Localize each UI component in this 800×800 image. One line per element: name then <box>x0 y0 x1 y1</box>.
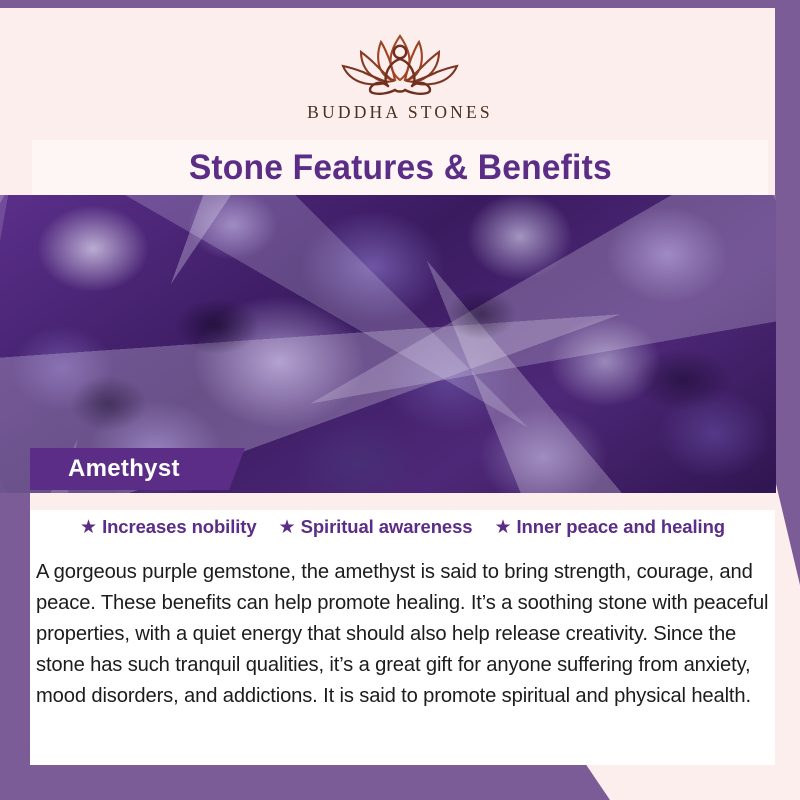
product-info-card: BUDDHA STONES Stone Features & Benefits … <box>0 0 800 800</box>
feature-item: ★ Spiritual awareness <box>279 516 473 538</box>
brand-name: BUDDHA STONES <box>307 102 493 123</box>
lotus-meditation-figure-icon <box>325 22 475 100</box>
stone-name-banner: Amethyst <box>30 448 245 490</box>
feature-item: ★ Increases nobility <box>80 516 257 538</box>
feature-label: Spiritual awareness <box>301 516 473 538</box>
stone-features-list: ★ Increases nobility ★ Spiritual awarene… <box>30 516 775 538</box>
star-icon: ★ <box>279 518 296 537</box>
stone-description: A gorgeous purple gemstone, the amethyst… <box>36 556 769 711</box>
feature-item: ★ Inner peace and healing <box>494 516 725 538</box>
content-top-spacer <box>30 493 775 510</box>
stone-name: Amethyst <box>68 455 180 483</box>
star-icon: ★ <box>80 518 97 537</box>
page-title: Stone Features & Benefits <box>188 148 611 188</box>
feature-label: Increases nobility <box>102 516 256 538</box>
star-icon: ★ <box>494 518 511 537</box>
frame-border-bottom <box>0 764 610 800</box>
feature-label: Inner peace and healing <box>517 516 725 538</box>
frame-border-left <box>0 493 30 776</box>
brand-header: BUDDHA STONES <box>0 0 800 142</box>
page-title-bar: Stone Features & Benefits <box>32 140 768 195</box>
